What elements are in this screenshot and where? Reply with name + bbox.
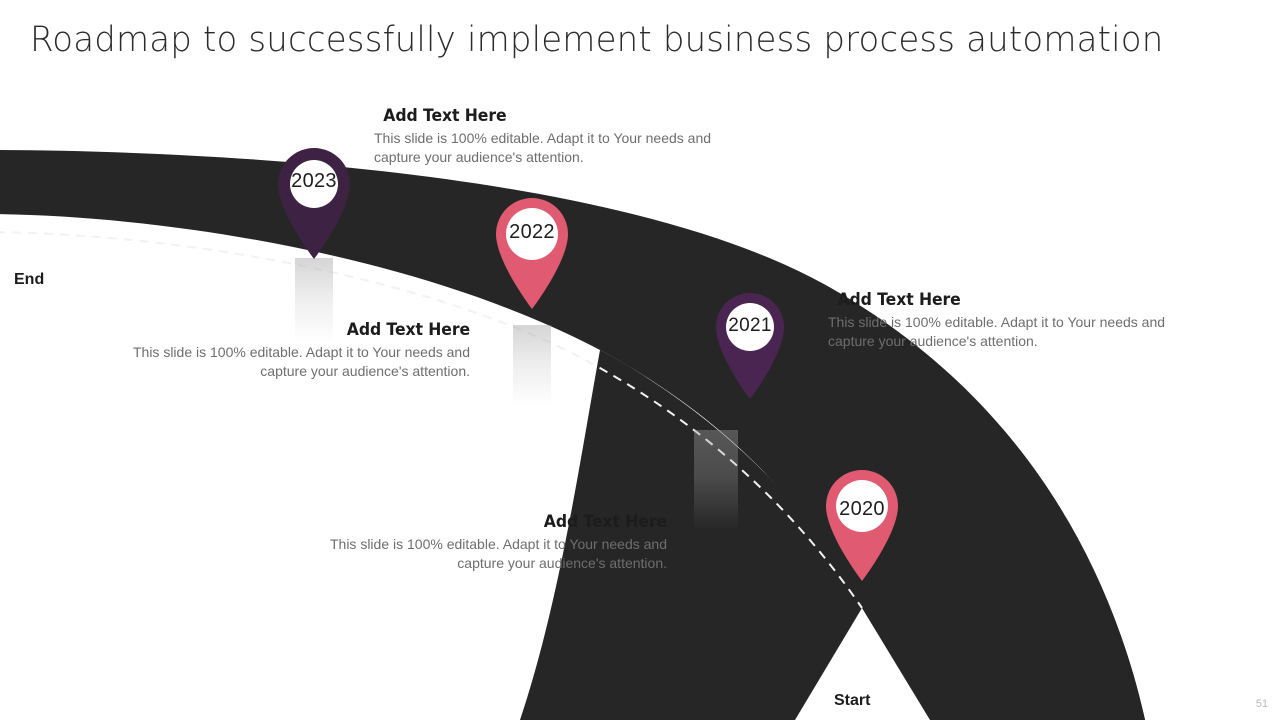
- map-pin-inner-circle: [726, 303, 774, 351]
- roadmap-slide: Roadmap to successfully implement busine…: [0, 0, 1280, 720]
- milestone-heading-2020: Add Text Here: [316, 512, 668, 531]
- milestone-pin-2023[interactable]: 2023: [270, 140, 358, 260]
- milestone-pin-2020[interactable]: 2020: [818, 462, 906, 582]
- milestone-body-2023: This slide is 100% editable. Adapt it to…: [374, 129, 746, 167]
- map-pin-inner-circle: [290, 160, 338, 208]
- map-pin-inner-circle: [506, 208, 558, 260]
- road-start-label: Start: [834, 692, 870, 710]
- milestone-text-2022: Add Text Here This slide is 100% editabl…: [100, 320, 470, 381]
- milestone-text-2023: Add Text Here This slide is 100% editabl…: [374, 106, 746, 167]
- milestone-text-2021: Add Text Here This slide is 100% editabl…: [828, 290, 1208, 351]
- map-pin-inner-circle: [836, 480, 888, 532]
- pin-shadow-2021: [694, 430, 738, 530]
- milestone-heading-2022: Add Text Here: [119, 320, 471, 339]
- milestone-text-2020: Add Text Here This slide is 100% editabl…: [297, 512, 667, 573]
- milestone-heading-2023: Add Text Here: [383, 106, 736, 125]
- milestone-body-2021: This slide is 100% editable. Adapt it to…: [828, 313, 1208, 351]
- milestone-body-2022: This slide is 100% editable. Adapt it to…: [100, 343, 470, 381]
- milestone-pin-2021[interactable]: 2021: [708, 285, 792, 400]
- page-number: 51: [1256, 698, 1268, 710]
- milestone-pin-2022[interactable]: 2022: [488, 190, 576, 310]
- milestone-body-2020: This slide is 100% editable. Adapt it to…: [297, 535, 667, 573]
- pin-shadow-2022: [513, 325, 551, 407]
- road-end-label: End: [14, 271, 44, 289]
- milestone-heading-2021: Add Text Here: [838, 290, 1199, 309]
